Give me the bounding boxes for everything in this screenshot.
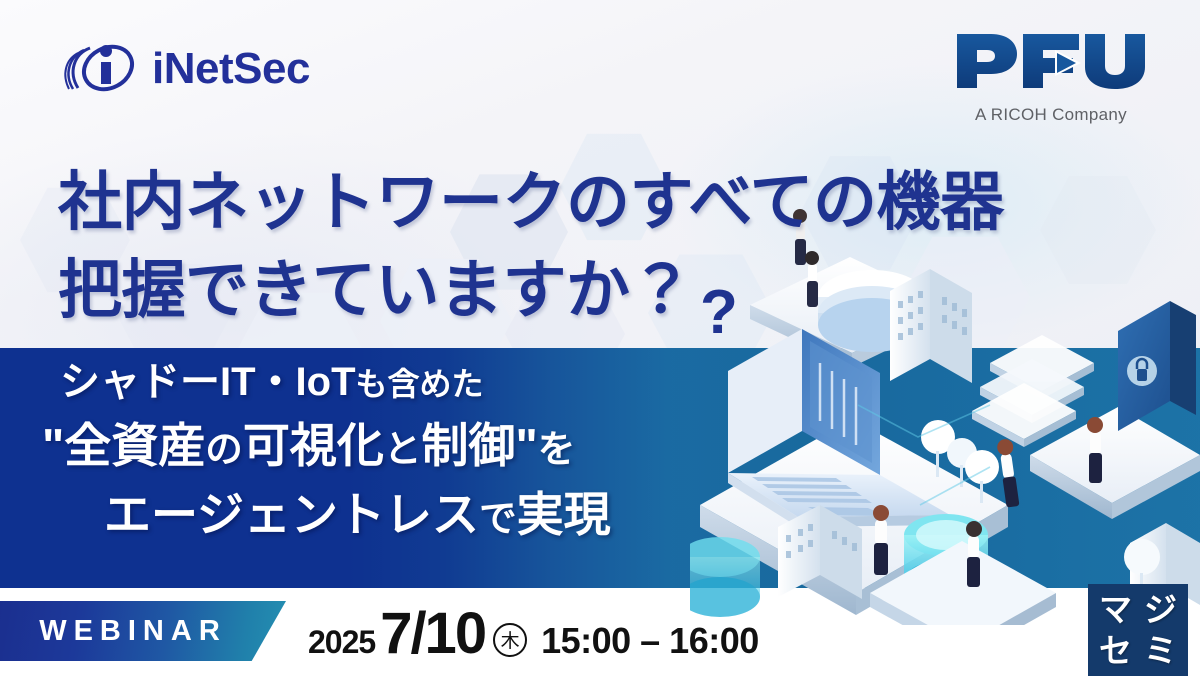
event-datetime: 2025 7/10 木 15:00 – 16:00	[308, 600, 759, 662]
inetsec-wordmark: iNetSec	[152, 47, 310, 91]
quote-close: "	[515, 419, 537, 472]
headline: 社内ネットワークのすべての機器 把握できていますか？	[58, 158, 1058, 335]
subhead-line2-mid2: と	[384, 428, 422, 470]
subhead-line3-mid: で	[479, 497, 517, 539]
subhead-line2-main: 全資産	[64, 419, 205, 472]
pfu-logo: A RICOH Company	[946, 30, 1156, 125]
swoosh-i-icon	[60, 38, 146, 100]
subhead-line-1: シャドーIT・IoTも含めた	[60, 362, 740, 402]
event-day-of-week: 木	[493, 623, 527, 657]
headline-line-2: 把握できていますか？	[58, 246, 1058, 334]
webinar-label-banner: WEBINAR	[0, 601, 286, 661]
headline-line-1: 社内ネットワークのすべての機器	[58, 158, 1058, 246]
subhead-line-2: "全資産の可視化と制御"を	[42, 422, 740, 469]
subhead-line3-tail: 実現	[517, 488, 611, 541]
subhead-line2-main3: 制御	[421, 419, 515, 472]
majisemi-char-3: セ	[1099, 634, 1132, 667]
event-time: 15:00 – 16:00	[541, 620, 759, 662]
webinar-label: WEBINAR	[33, 615, 227, 648]
quote-open: "	[42, 419, 64, 472]
event-year: 2025	[308, 624, 375, 661]
event-date: 7/10	[380, 600, 485, 667]
subhead-line2-tail: を	[538, 428, 576, 470]
subhead-line1-tail: も含めた	[356, 366, 484, 402]
pfu-wordmark	[951, 79, 1151, 96]
subhead-line2-mid: の	[205, 428, 243, 470]
subhead-line3-main: エージェントレス	[104, 488, 479, 541]
subhead-line2-main2: 可視化	[243, 419, 384, 472]
inetsec-logo: iNetSec	[60, 38, 310, 100]
webinar-banner: ? iNetSec	[0, 0, 1200, 684]
subhead-line1-main: シャドーIT・IoT	[60, 360, 356, 404]
pfu-tagline: A RICOH Company	[946, 105, 1156, 125]
majisemi-badge: マ ジ セ ミ	[1088, 584, 1188, 676]
majisemi-char-2: ジ	[1144, 593, 1177, 626]
subhead: シャドーIT・IoTも含めた "全資産の可視化と制御"を エージェントレスで実現	[60, 362, 740, 538]
majisemi-char-4: ミ	[1144, 634, 1177, 667]
majisemi-char-1: マ	[1099, 593, 1132, 626]
subhead-line-3: エージェントレスで実現	[104, 491, 740, 538]
